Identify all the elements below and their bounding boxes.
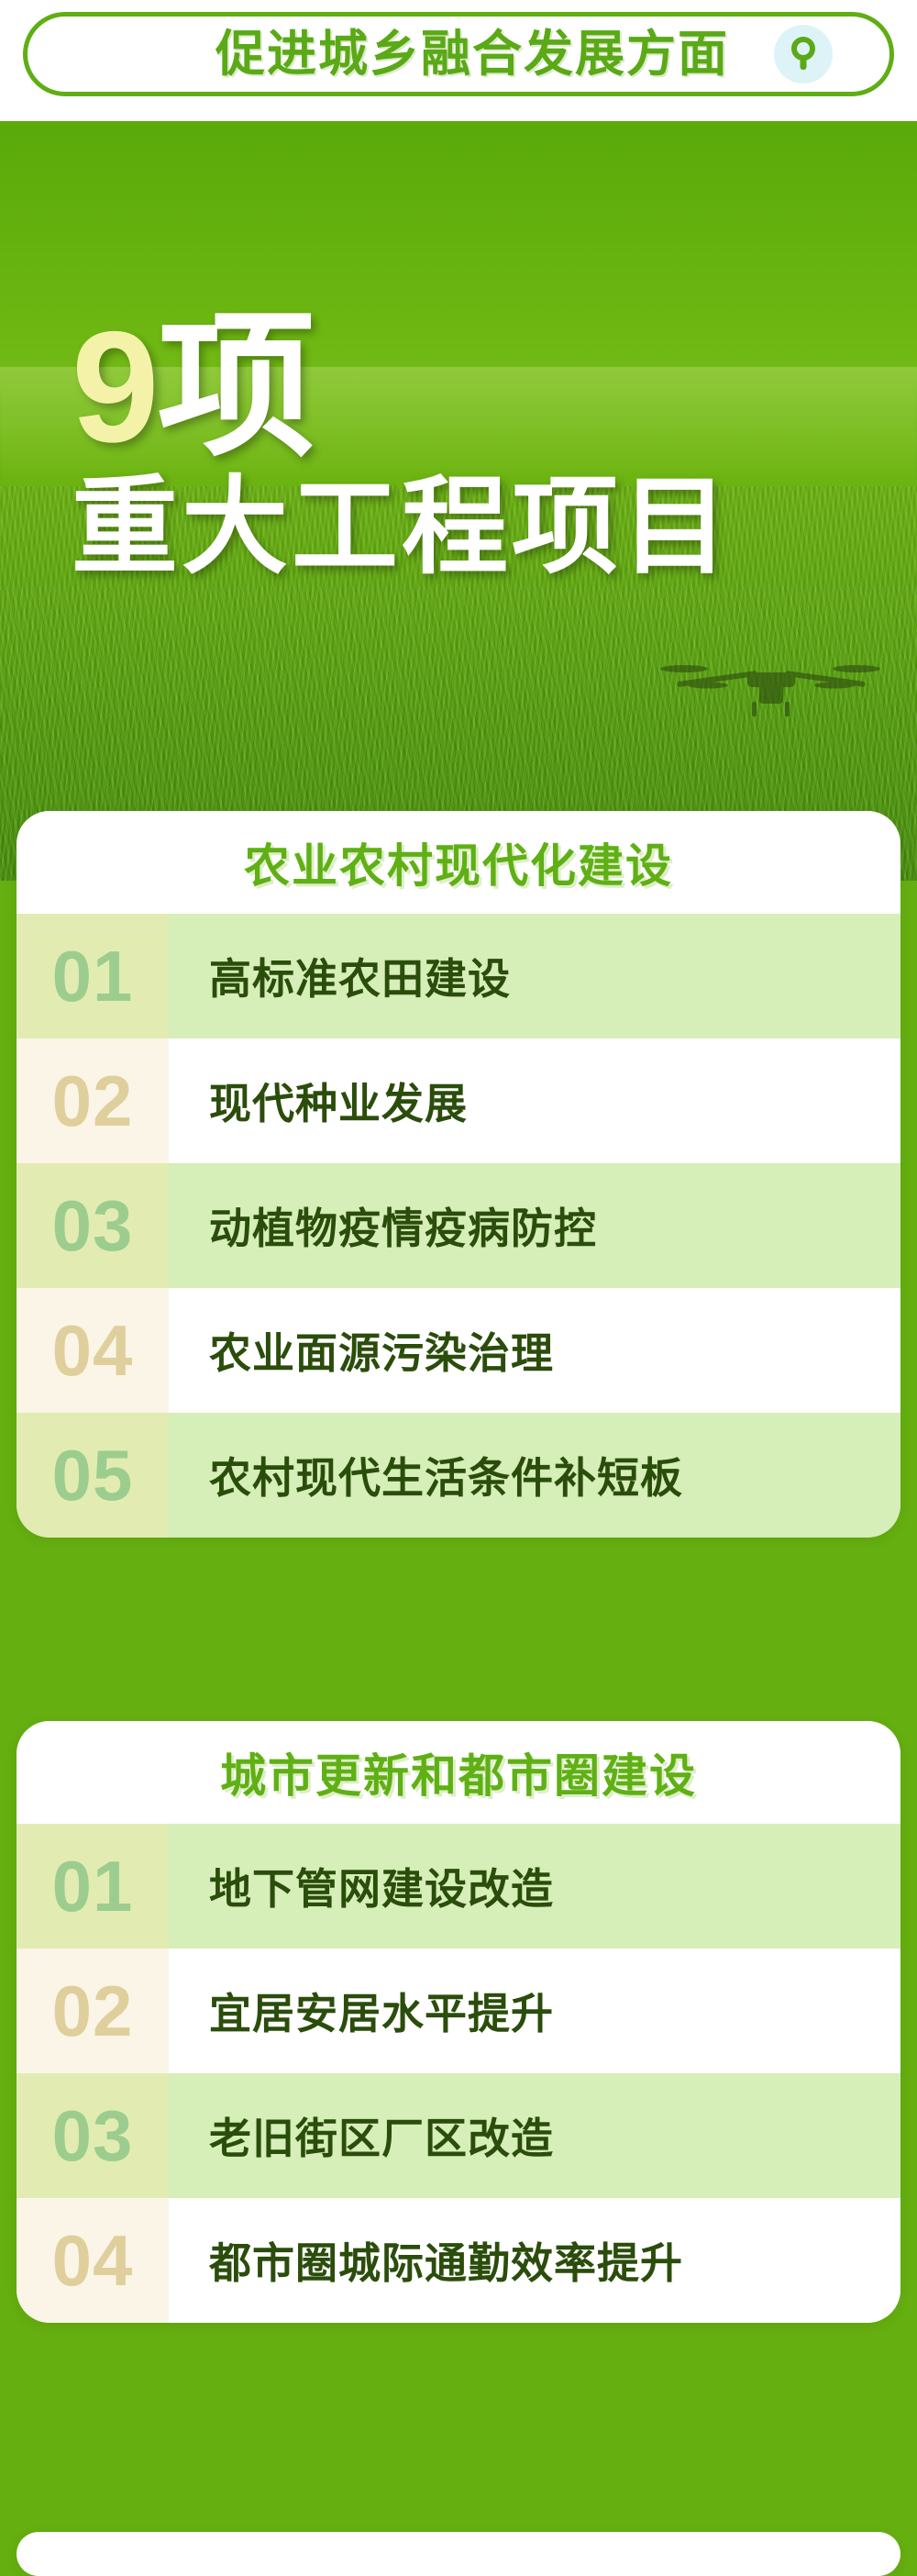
page-header-pill: 促进城乡融合发展方面 (23, 12, 894, 96)
search-icon-glyph (783, 34, 823, 74)
hero-count-number: 9 (72, 299, 158, 475)
top-strip: 促进城乡融合发展方面 (0, 0, 917, 121)
search-icon[interactable] (774, 25, 833, 83)
list-item-label: 农村现代生活条件补短板 (169, 1413, 900, 1538)
hero-count-unit: 项 (158, 299, 314, 475)
section-card-urban: 城市更新和都市圈建设 01 地下管网建设改造 02 宜居安居水平提升 03 老旧… (17, 1721, 900, 2323)
list-item-number: 01 (17, 1824, 169, 1949)
list-item-label: 地下管网建设改造 (169, 1824, 900, 1949)
hero-title: 9项 重大工程项目 (72, 312, 732, 578)
section-title: 农业农村现代化建设 (244, 829, 673, 895)
list-item-label: 现代种业发展 (169, 1038, 900, 1163)
list-item-number: 02 (17, 1038, 169, 1163)
page-title: 促进城乡融合发展方面 (215, 29, 729, 79)
hero-title-line-2: 重大工程项目 (72, 476, 732, 578)
list-item-number: 05 (17, 1413, 169, 1538)
list-item-number: 03 (17, 2073, 169, 2198)
list-item-label: 农业面源污染治理 (169, 1288, 900, 1413)
list-item-label: 高标准农田建设 (169, 914, 900, 1038)
drone-icon (660, 628, 880, 729)
section-card-next-partial (17, 2532, 900, 2576)
section-card-agriculture: 农业农村现代化建设 01 高标准农田建设 02 现代种业发展 03 动植物疫情疫… (17, 811, 900, 1538)
list-item-number: 04 (17, 1288, 169, 1413)
section-header: 城市更新和都市圈建设 (17, 1721, 900, 1824)
list-item-number: 03 (17, 1163, 169, 1288)
list-item-label: 动植物疫情疫病防控 (169, 1163, 900, 1288)
list-item-label: 都市圈城际通勤效率提升 (169, 2198, 900, 2323)
list-item[interactable]: 02 宜居安居水平提升 (17, 1949, 900, 2073)
list-item[interactable]: 02 现代种业发展 (17, 1038, 900, 1163)
list-item[interactable]: 03 老旧街区厂区改造 (17, 2073, 900, 2198)
list-item[interactable]: 01 地下管网建设改造 (17, 1824, 900, 1949)
list-item-label: 老旧街区厂区改造 (169, 2073, 900, 2198)
list-item-label: 宜居安居水平提升 (169, 1949, 900, 2073)
list-item[interactable]: 05 农村现代生活条件补短板 (17, 1413, 900, 1538)
hero-title-line-1: 9项 (72, 312, 732, 463)
list-item-number: 01 (17, 914, 169, 1038)
list-item[interactable]: 03 动植物疫情疫病防控 (17, 1163, 900, 1288)
list-item[interactable]: 01 高标准农田建设 (17, 914, 900, 1038)
list-item-number: 02 (17, 1949, 169, 2073)
list-item-number: 04 (17, 2198, 169, 2323)
list-item[interactable]: 04 都市圈城际通勤效率提升 (17, 2198, 900, 2323)
section-header: 农业农村现代化建设 (17, 811, 900, 914)
hero-banner: 9项 重大工程项目 (0, 92, 917, 881)
section-title: 城市更新和都市圈建设 (220, 1739, 697, 1805)
list-item[interactable]: 04 农业面源污染治理 (17, 1288, 900, 1413)
